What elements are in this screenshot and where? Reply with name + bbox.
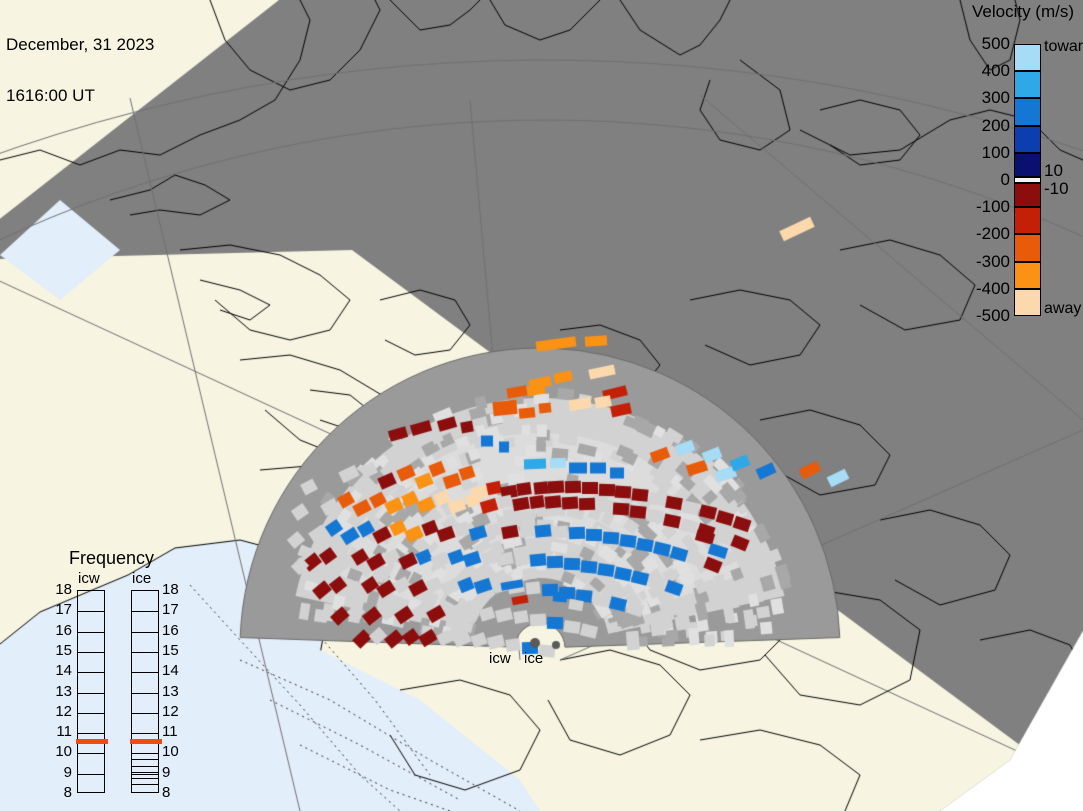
colorbar-tick--100: -100 <box>976 197 1010 217</box>
colorbar-band--100--200 <box>1014 207 1041 234</box>
frequency-label-right-13: 13 <box>162 683 188 700</box>
frequency-label-right-14: 14 <box>162 662 188 679</box>
colorbar-tick-100: 100 <box>982 143 1010 163</box>
frequency-label-left-11: 11 <box>46 723 72 740</box>
frequency-label-right-15: 15 <box>162 642 188 659</box>
frequency-label-left-9: 9 <box>46 764 72 781</box>
colorbar-tick--200: -200 <box>976 224 1010 244</box>
colorbar-band-500-400 <box>1014 44 1041 71</box>
colorbar-band--200--300 <box>1014 234 1041 261</box>
frequency-tick-line <box>132 774 158 775</box>
frequency-tick-line <box>78 652 104 653</box>
colorbar-band--400--500 <box>1014 289 1041 316</box>
timestamp-block: December, 31 2023 1616:00 UT <box>6 2 154 138</box>
frequency-tick-line <box>78 753 104 754</box>
colorbar-zero-upper-label: 10 <box>1044 161 1063 181</box>
colorbar-tick--500: -500 <box>976 306 1010 326</box>
frequency-label-right-17: 17 <box>162 601 188 618</box>
frequency-tick-line <box>78 774 104 775</box>
colorbar-tick--400: -400 <box>976 279 1010 299</box>
colorbar-tick--300: -300 <box>976 252 1010 272</box>
colorbar-tick-500: 500 <box>982 34 1010 54</box>
frequency-tick-line <box>132 652 158 653</box>
frequency-label-right-8: 8 <box>162 784 188 801</box>
colorbar-tick-300: 300 <box>982 88 1010 108</box>
frequency-column-icw: icw <box>78 570 100 587</box>
frequency-tick-line <box>132 778 158 779</box>
colorbar-band-200-100 <box>1014 126 1041 153</box>
frequency-tick-line <box>78 632 104 633</box>
frequency-tick-line <box>132 713 158 714</box>
frequency-label-right-10: 10 <box>162 743 188 760</box>
frequency-label-left-14: 14 <box>46 662 72 679</box>
frequency-tick-line <box>78 611 104 612</box>
frequency-label-left-16: 16 <box>46 622 72 639</box>
velocity-colorbar[interactable] <box>1014 44 1041 316</box>
frequency-label-left-13: 13 <box>46 683 72 700</box>
frequency-label-right-9: 9 <box>162 764 188 781</box>
colorbar-band-100-10 <box>1014 153 1041 177</box>
frequency-tick-line <box>132 693 158 694</box>
colorbar-tick-0: 0 <box>1001 170 1010 190</box>
frequency-label-right-16: 16 <box>162 622 188 639</box>
frequency-tick-line <box>132 753 158 754</box>
time-label: 1616:00 UT <box>6 87 154 104</box>
frequency-marker-ice <box>130 739 162 744</box>
frequency-bar-ice[interactable] <box>131 590 159 793</box>
frequency-label-right-12: 12 <box>162 703 188 720</box>
frequency-tick-line <box>132 772 158 773</box>
colorbar-band-400-300 <box>1014 71 1041 98</box>
frequency-tick-line <box>132 632 158 633</box>
colorbar-tick-400: 400 <box>982 61 1010 81</box>
colorbar-band--10--100 <box>1014 183 1041 207</box>
frequency-label-right-11: 11 <box>162 723 188 740</box>
colorbar-toward-label: toward <box>1044 38 1083 56</box>
superdarn-fan-plot: December, 31 2023 1616:00 UT Velocity (m… <box>0 0 1083 811</box>
colorbar-tick-200: 200 <box>982 116 1010 136</box>
frequency-tick-line <box>132 759 158 760</box>
colorbar-tick-labels: 5004003002001000-100-200-300-400-500 <box>955 0 1010 340</box>
frequency-tick-line <box>78 733 104 734</box>
frequency-legend-title: Frequency <box>69 548 154 569</box>
frequency-label-left-18: 18 <box>46 581 72 598</box>
colorbar-band-300-200 <box>1014 98 1041 125</box>
frequency-label-left-12: 12 <box>46 703 72 720</box>
frequency-tick-line <box>132 611 158 612</box>
frequency-label-left-8: 8 <box>46 784 72 801</box>
frequency-tick-line <box>78 693 104 694</box>
frequency-tick-line <box>132 672 158 673</box>
radar-site-label-ice: ice <box>524 650 543 667</box>
colorbar-band--300--400 <box>1014 262 1041 289</box>
frequency-tick-line <box>132 766 158 767</box>
frequency-marker-icw <box>76 739 108 744</box>
frequency-tick-line <box>78 672 104 673</box>
frequency-label-left-10: 10 <box>46 743 72 760</box>
radar-site-label-icw: icw <box>489 650 511 667</box>
frequency-label-right-18: 18 <box>162 581 188 598</box>
frequency-legend[interactable]: Frequency icw ice 18171615141312111098 1… <box>60 548 200 798</box>
frequency-label-left-17: 17 <box>46 601 72 618</box>
frequency-bar-icw[interactable] <box>77 590 105 793</box>
colorbar-away-label: away <box>1044 300 1081 318</box>
frequency-tick-line <box>132 784 158 785</box>
frequency-tick-line <box>78 713 104 714</box>
colorbar-zero-lower-label: -10 <box>1044 179 1069 199</box>
frequency-column-ice: ice <box>132 570 151 587</box>
date-label: December, 31 2023 <box>6 36 154 53</box>
frequency-label-left-15: 15 <box>46 642 72 659</box>
frequency-tick-line <box>132 733 158 734</box>
